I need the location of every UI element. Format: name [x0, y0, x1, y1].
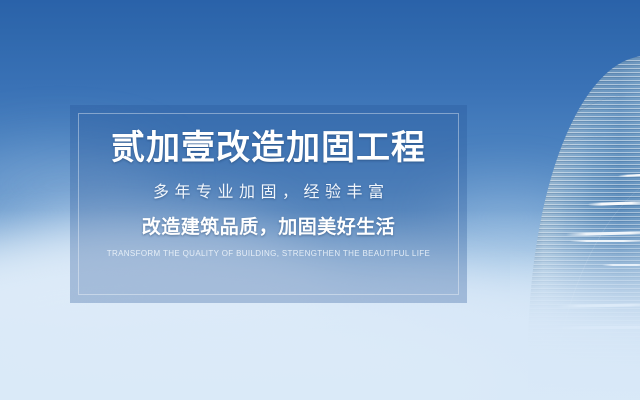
subtitle-primary: 多年专业加固，经验丰富 [147, 185, 389, 201]
skyscraper-icon [528, 56, 640, 400]
subtitle-english: TRANSFORM THE QUALITY OF BUILDING, STREN… [107, 250, 430, 258]
facade-glass-tint [528, 56, 640, 400]
panel-content: 贰加壹改造加固工程 多年专业加固，经验丰富 改造建筑品质，加固美好生活 TRAN… [70, 105, 467, 303]
hero-banner: 贰加壹改造加固工程 多年专业加固，经验丰富 改造建筑品质，加固美好生活 TRAN… [0, 0, 640, 400]
subtitle-secondary: 改造建筑品质，加固美好生活 [142, 218, 396, 237]
headline-panel: 贰加壹改造加固工程 多年专业加固，经验丰富 改造建筑品质，加固美好生活 TRAN… [70, 105, 467, 303]
window-highlight [602, 264, 640, 266]
headline-title: 贰加壹改造加固工程 [111, 131, 426, 165]
skyscraper-region [510, 0, 640, 400]
window-highlight [570, 240, 640, 242]
